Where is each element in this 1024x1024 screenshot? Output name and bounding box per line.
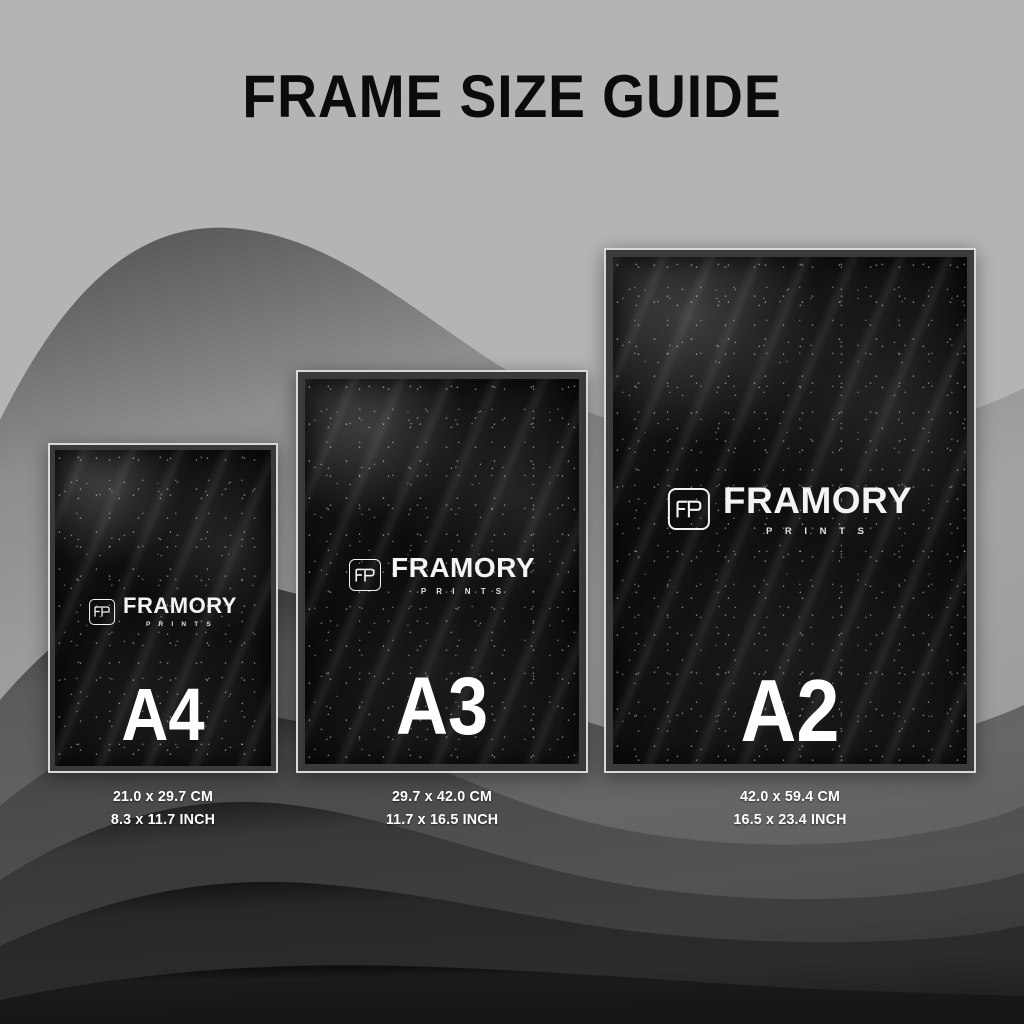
brand-name: FRAMORY (123, 595, 237, 617)
frame-a4-inch: 8.3 x 11.7 INCH (54, 808, 273, 831)
frame-a4-artwork: FRAMORY P R I N T S A4 (55, 450, 271, 766)
frame-a4-cm: 21.0 x 29.7 CM (54, 785, 273, 808)
frame-a2-artwork: FRAMORY P R I N T S A2 (613, 257, 967, 764)
brand-name: FRAMORY (723, 482, 912, 519)
brand-subtitle: P R I N T S (766, 527, 869, 537)
fp-monogram-icon (668, 488, 710, 530)
frame-a3-logo-words: FRAMORY P R I N T S (391, 554, 535, 596)
frame-a2-logo-words: FRAMORY P R I N T S (723, 482, 912, 537)
frame-a2-inch: 16.5 x 23.4 INCH (613, 808, 966, 831)
frame-a4[interactable]: FRAMORY P R I N T S A4 (48, 443, 278, 773)
frame-a2-caption: 42.0 x 59.4 CM 16.5 x 23.4 INCH (613, 785, 966, 832)
frame-a3-size-code: A3 (396, 666, 488, 748)
frame-a4-logo-words: FRAMORY P R I N T S (123, 595, 237, 629)
brand-subtitle: P R I N T S (146, 622, 214, 629)
page-title: FRAME SIZE GUIDE (41, 62, 983, 131)
frame-a2[interactable]: FRAMORY P R I N T S A2 (604, 248, 976, 773)
frame-a3-inch: 11.7 x 16.5 INCH (303, 808, 580, 831)
frame-a2-cm: 42.0 x 59.4 CM (613, 785, 966, 808)
frame-a3[interactable]: FRAMORY P R I N T S A3 (296, 370, 588, 773)
brand-subtitle: P R I N T S (421, 588, 505, 596)
frame-a4-logo: FRAMORY P R I N T S (89, 595, 237, 629)
brand-name: FRAMORY (391, 554, 535, 582)
frame-a3-logo: FRAMORY P R I N T S (349, 554, 535, 596)
frame-a2-size-code: A2 (741, 667, 840, 755)
frame-size-guide-poster: FRAME SIZE GUIDE FRAMORY P R I N T S (0, 0, 1024, 1024)
frame-a2-logo: FRAMORY P R I N T S (668, 482, 912, 537)
fp-monogram-icon (89, 599, 115, 625)
frame-a3-caption: 29.7 x 42.0 CM 11.7 x 16.5 INCH (303, 785, 580, 832)
frame-a4-size-code: A4 (121, 678, 204, 752)
frame-a3-cm: 29.7 x 42.0 CM (303, 785, 580, 808)
fp-monogram-icon (349, 559, 381, 591)
frame-a4-caption: 21.0 x 29.7 CM 8.3 x 11.7 INCH (54, 785, 273, 832)
frame-a3-artwork: FRAMORY P R I N T S A3 (305, 379, 579, 764)
